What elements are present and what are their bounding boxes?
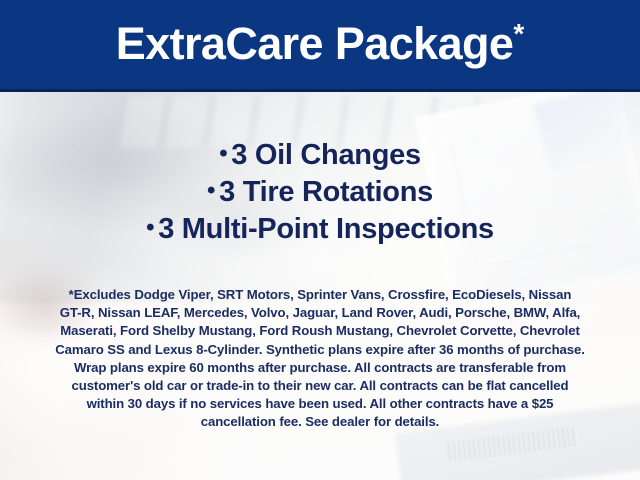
page-title-text: ExtraCare Package (116, 18, 514, 69)
header-banner: ExtraCare Package* (0, 0, 640, 92)
page-title: ExtraCare Package* (116, 20, 524, 70)
list-item-label: 3 Tire Rotations (219, 176, 433, 208)
disclaimer-line: Wrap plans expire 60 months after purcha… (28, 359, 612, 377)
disclaimer-line: *Excludes Dodge Viper, SRT Motors, Sprin… (28, 286, 612, 304)
bullet-icon: • (219, 140, 227, 167)
list-item: •3 Oil Changes (0, 136, 640, 173)
disclaimer-line: customer's old car or trade-in to their … (28, 377, 612, 395)
title-asterisk: * (513, 18, 524, 49)
disclaimer-line: cancellation fee. See dealer for details… (28, 413, 612, 431)
list-item-label: 3 Multi-Point Inspections (158, 213, 494, 245)
disclaimer-line: Camaro SS and Lexus 8-Cylinder. Syntheti… (28, 341, 612, 359)
list-item-label: 3 Oil Changes (231, 139, 421, 171)
bullet-icon: • (146, 214, 154, 241)
bullet-icon: • (207, 177, 215, 204)
disclaimer-line: GT-R, Nissan LEAF, Mercedes, Volvo, Jagu… (28, 304, 612, 322)
disclaimer-line: within 30 days if no services have been … (28, 395, 612, 413)
disclaimer-line: Maserati, Ford Shelby Mustang, Ford Rous… (28, 322, 612, 340)
extracare-package-ad: ExtraCare Package* •3 Oil Changes •3 Tir… (0, 0, 640, 480)
list-item: •3 Multi-Point Inspections (0, 210, 640, 247)
list-item: •3 Tire Rotations (0, 173, 640, 210)
disclaimer-text: *Excludes Dodge Viper, SRT Motors, Sprin… (28, 286, 612, 432)
benefits-list: •3 Oil Changes •3 Tire Rotations •3 Mult… (0, 136, 640, 247)
